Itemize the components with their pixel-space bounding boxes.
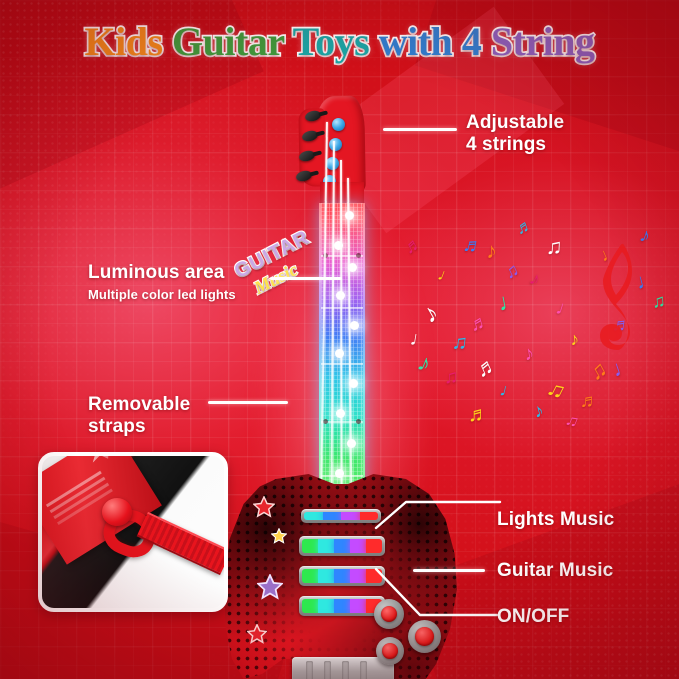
annotation-luminous-area: Luminous area Multiple color led lights (88, 262, 236, 302)
title-word-4: 4 (462, 19, 491, 64)
treble-clef-icon (582, 238, 646, 356)
title-word-guitar: Guitar (172, 19, 293, 64)
bridge-saddle (324, 661, 331, 679)
led-segment-green (302, 539, 318, 553)
led-bar-1-segments (302, 539, 382, 553)
bridge-saddle (342, 661, 349, 679)
fret-marker (323, 419, 328, 424)
title-word-string: String (491, 19, 595, 64)
music-note-icon: ♪ (526, 269, 543, 290)
title-word-kids: Kids (85, 19, 173, 64)
leader-line-luminous-area (270, 277, 342, 280)
fret-marker (356, 419, 361, 424)
fretboard-led (350, 321, 359, 330)
annotation-on-off-label: ON/OFF (497, 606, 569, 627)
star-decal-2 (257, 574, 283, 600)
music-note-icon: ♪ (522, 343, 535, 364)
music-note-icon: ♩ (609, 353, 637, 381)
music-note-icon: ♩ (597, 241, 621, 265)
music-note-icon: ♫ (502, 260, 522, 282)
led-segment-blue (334, 569, 350, 583)
led-bar-top[interactable] (301, 509, 381, 523)
music-note-icon: ♬ (461, 234, 485, 258)
music-note-icon: ♫ (586, 357, 611, 384)
removable-strap-inset-photo (38, 452, 228, 612)
leader-line-adjustable-strings (383, 128, 457, 131)
star-decal-8 (271, 528, 287, 544)
star-decal-1 (253, 496, 275, 518)
annotation-lights-music-label: Lights Music (497, 509, 614, 530)
led-segment-red (360, 512, 379, 520)
led-segment-red (366, 539, 382, 553)
led-segment-red (366, 569, 382, 583)
led-segment-blue (323, 512, 342, 520)
leader-line-removable-straps (208, 401, 288, 404)
music-note-icon: ♫ (544, 375, 570, 403)
leader-line-guitar-music (413, 569, 485, 572)
fret-line (321, 307, 363, 309)
fretboard-led (335, 469, 344, 478)
annotation-lights-music: Lights Music (497, 509, 614, 531)
on-off-button[interactable] (376, 637, 404, 665)
annotation-removable-straps-line2: straps (88, 416, 146, 437)
fret-marker (356, 253, 361, 258)
music-note-icon: ♬ (611, 315, 632, 336)
title-word-toys: Toys (293, 19, 379, 64)
led-segment-green (302, 569, 318, 583)
annotation-adjustable-strings-line2: 4 strings (466, 134, 546, 155)
annotation-luminous-area-label: Luminous area (88, 262, 224, 283)
music-note-icon: ♫ (563, 410, 581, 431)
music-note-icon: ♬ (579, 391, 599, 411)
led-segment-blue (334, 599, 350, 613)
bridge-saddle (306, 661, 313, 679)
page-title: Kids Guitar Toys with 4 String (0, 22, 679, 62)
star-decal-3 (247, 624, 267, 644)
lights-music-button[interactable] (374, 599, 404, 629)
annotation-on-off: ON/OFF (497, 606, 569, 628)
annotation-removable-straps-line1: Removable (88, 394, 190, 415)
music-note-icon: ♪ (486, 240, 498, 262)
annotation-guitar-music-label: Guitar Music (497, 560, 613, 581)
music-note-icon: ♬ (468, 404, 489, 425)
title-word-with: with (379, 19, 462, 64)
led-bar-top-segments (304, 512, 378, 520)
led-bar-3-segments (302, 599, 382, 613)
music-note-icon: ♫ (545, 236, 563, 259)
led-bar-3[interactable] (299, 596, 385, 616)
strap-button-knob (102, 498, 132, 526)
annotation-guitar-music: Guitar Music (497, 560, 613, 582)
music-note-icon: ♩ (634, 268, 660, 294)
fretboard-led (347, 439, 356, 448)
led-segment-purple (350, 569, 366, 583)
tuning-peg-1 (332, 118, 345, 131)
lights-music-button-cap (381, 606, 398, 623)
led-segment-cyan (304, 512, 323, 520)
led-segment-green (302, 599, 318, 613)
led-bar-2-segments (302, 569, 382, 583)
music-note-icon: ♩ (554, 298, 579, 323)
annotation-adjustable-strings: Adjustable 4 strings (466, 112, 564, 156)
on-off-button-cap (382, 643, 398, 659)
guitar-music-button-cap (415, 627, 433, 645)
music-note-icon: ♪ (532, 401, 546, 422)
annotation-removable-straps: Removable straps (88, 394, 190, 438)
led-segment-purple (341, 512, 360, 520)
music-note-icon: ♩ (496, 288, 524, 316)
product-feature-image: ♪♫♬♩♪♫♬♩♪♫♬♩♪♫♬♩♪♫♬♩♪♫♬♩♪♫♬♩♪♫♬♩ (0, 0, 679, 679)
fretboard-led (345, 211, 354, 220)
led-bar-1[interactable] (299, 536, 385, 556)
bridge-saddle (360, 661, 367, 679)
music-note-icon: ♫ (651, 291, 666, 310)
led-segment-cyan (318, 599, 334, 613)
annotation-luminous-area-sub: Multiple color led lights (88, 287, 236, 302)
music-note-icon: ♬ (514, 216, 536, 238)
music-note-icon: ♪ (569, 330, 580, 349)
annotation-adjustable-strings-line1: Adjustable (466, 112, 564, 133)
guitar-product-illustration: GUITAR Music (219, 96, 464, 641)
music-note-icon: ♩ (498, 380, 520, 402)
guitar-music-button[interactable] (408, 620, 441, 653)
led-segment-blue (334, 539, 350, 553)
led-segment-purple (350, 539, 366, 553)
tuning-peg-2 (329, 138, 342, 151)
led-segment-cyan (318, 569, 334, 583)
music-note-icon: ♬ (468, 312, 492, 336)
music-note-icon: ♬ (472, 352, 501, 381)
led-segment-purple (350, 599, 366, 613)
music-note-icon: ♪ (637, 225, 653, 247)
fret-line (321, 363, 363, 365)
led-segment-cyan (318, 539, 334, 553)
led-bar-2[interactable] (299, 566, 385, 586)
